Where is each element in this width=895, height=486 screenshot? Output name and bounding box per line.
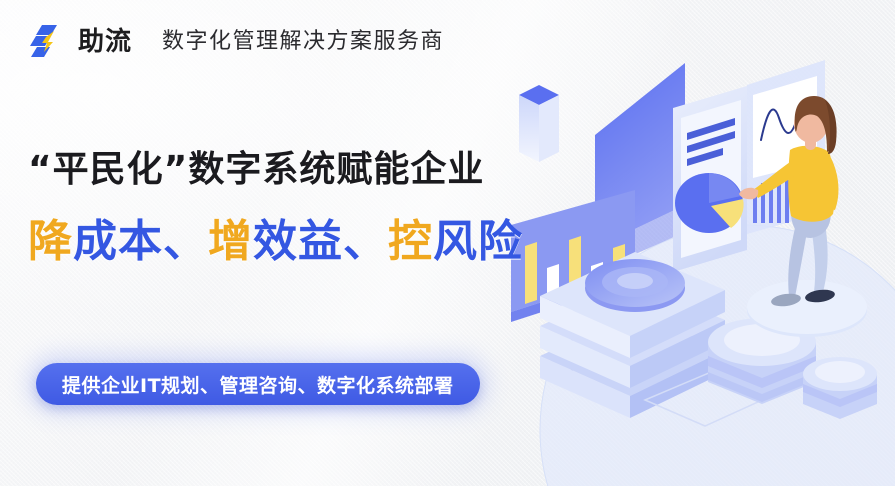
brand-header: 助流 数字化管理解决方案服务商 [24,22,444,62]
dashboard-panel-pie-chart [673,86,747,272]
headline-part-3: 效益、 [253,216,388,267]
promo-banner: 助流 数字化管理解决方案服务商 “平民化”数字系统赋能企业 降成本、增效益、控风… [0,0,895,486]
headline-primary: “平民化”数字系统赋能企业 [28,147,484,192]
headline-part-1: 成本、 [73,216,208,267]
small-iso-column [519,85,559,162]
headline-part-0: 降 [28,216,73,267]
headline-part-2: 增 [208,216,253,267]
services-cta-button[interactable]: 提供企业IT规划、管理咨询、数字化系统部署 [36,363,480,405]
headline-part-4: 控 [388,216,433,267]
headline-part-5: 风险 [433,216,523,267]
headline-secondary: 降成本、增效益、控风险 [28,214,523,269]
standing-disc [747,280,867,337]
brand-wordmark: 助流 [78,29,132,55]
illustration-artwork [495,0,895,486]
brand-tagline: 数字化管理解决方案服务商 [162,31,444,53]
lightning-bolt-logo-icon [24,22,64,62]
